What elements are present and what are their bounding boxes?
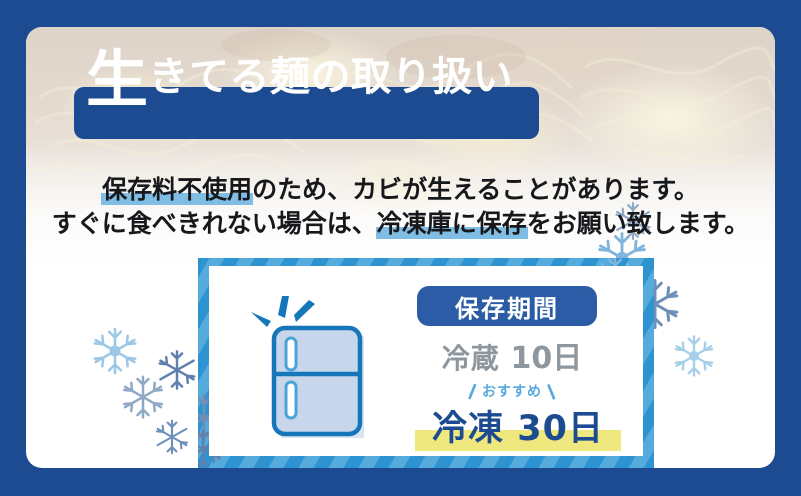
refrigerator-icon xyxy=(245,288,385,448)
chilled-label: 冷蔵 xyxy=(442,342,500,375)
page-title: 生きてる麺の取り扱い xyxy=(86,49,513,111)
frozen-row: 冷凍 30日 xyxy=(417,400,619,451)
snowflake-icon xyxy=(154,347,200,393)
storage-card-inner: 保存期間 冷蔵 10日 ❙おすすめ❙ 冷凍 30日 xyxy=(209,266,643,456)
title-rest: きてる麺の取り扱い xyxy=(149,54,514,100)
subtitle-line-1: 保存料不使用のため、カビが生えることがあります。 xyxy=(26,170,775,206)
subtitle-line-2: すぐに食べきれない場合は、冷凍庫に保存をお願い致します。 xyxy=(26,204,775,240)
tick-right-icon: ❙ xyxy=(541,379,561,402)
chilled-value: 10 xyxy=(511,341,553,376)
subtitle-highlight-1: 保存料不使用 xyxy=(102,170,252,206)
snowflake-icon xyxy=(670,332,718,380)
snowflake-icon xyxy=(88,324,142,378)
tick-left-icon: ❙ xyxy=(463,379,483,402)
white-panel: 生きてる麺の取り扱い 保存料不使用のため、カビが生えることがあります。 すぐに食… xyxy=(26,27,775,468)
subtitle-line-1-rest: のため、カビが生えることがあります。 xyxy=(252,175,699,204)
storage-period-info: 保存期間 冷蔵 10日 ❙おすすめ❙ 冷凍 30日 xyxy=(417,286,632,451)
snowflake-icon xyxy=(152,417,192,457)
poster-root: 生きてる麺の取り扱い 保存料不使用のため、カビが生えることがあります。 すぐに食… xyxy=(0,0,801,496)
recommended-tag-label: おすすめ xyxy=(482,384,542,400)
frozen-label: 冷凍 xyxy=(432,409,504,449)
frozen-unit: 日 xyxy=(568,409,604,449)
recommended-tag: ❙おすすめ❙ xyxy=(417,381,607,401)
frozen-value: 30 xyxy=(517,409,568,449)
title-lead-char: 生 xyxy=(86,43,149,116)
chilled-unit: 日 xyxy=(552,341,582,376)
storage-info-card: 保存期間 冷蔵 10日 ❙おすすめ❙ 冷凍 30日 xyxy=(198,258,654,468)
subtitle-line-2-rest: をお願い致します。 xyxy=(527,209,750,238)
subtitle-highlight-2: 冷凍庫に保存 xyxy=(377,204,527,240)
subtitle-line-2-pre: すぐに食べきれない場合は、 xyxy=(52,209,377,238)
status-badge: 保存期間 xyxy=(417,286,597,326)
chilled-row: 冷蔵 10日 xyxy=(417,333,607,377)
sparkle-icon xyxy=(251,296,315,327)
